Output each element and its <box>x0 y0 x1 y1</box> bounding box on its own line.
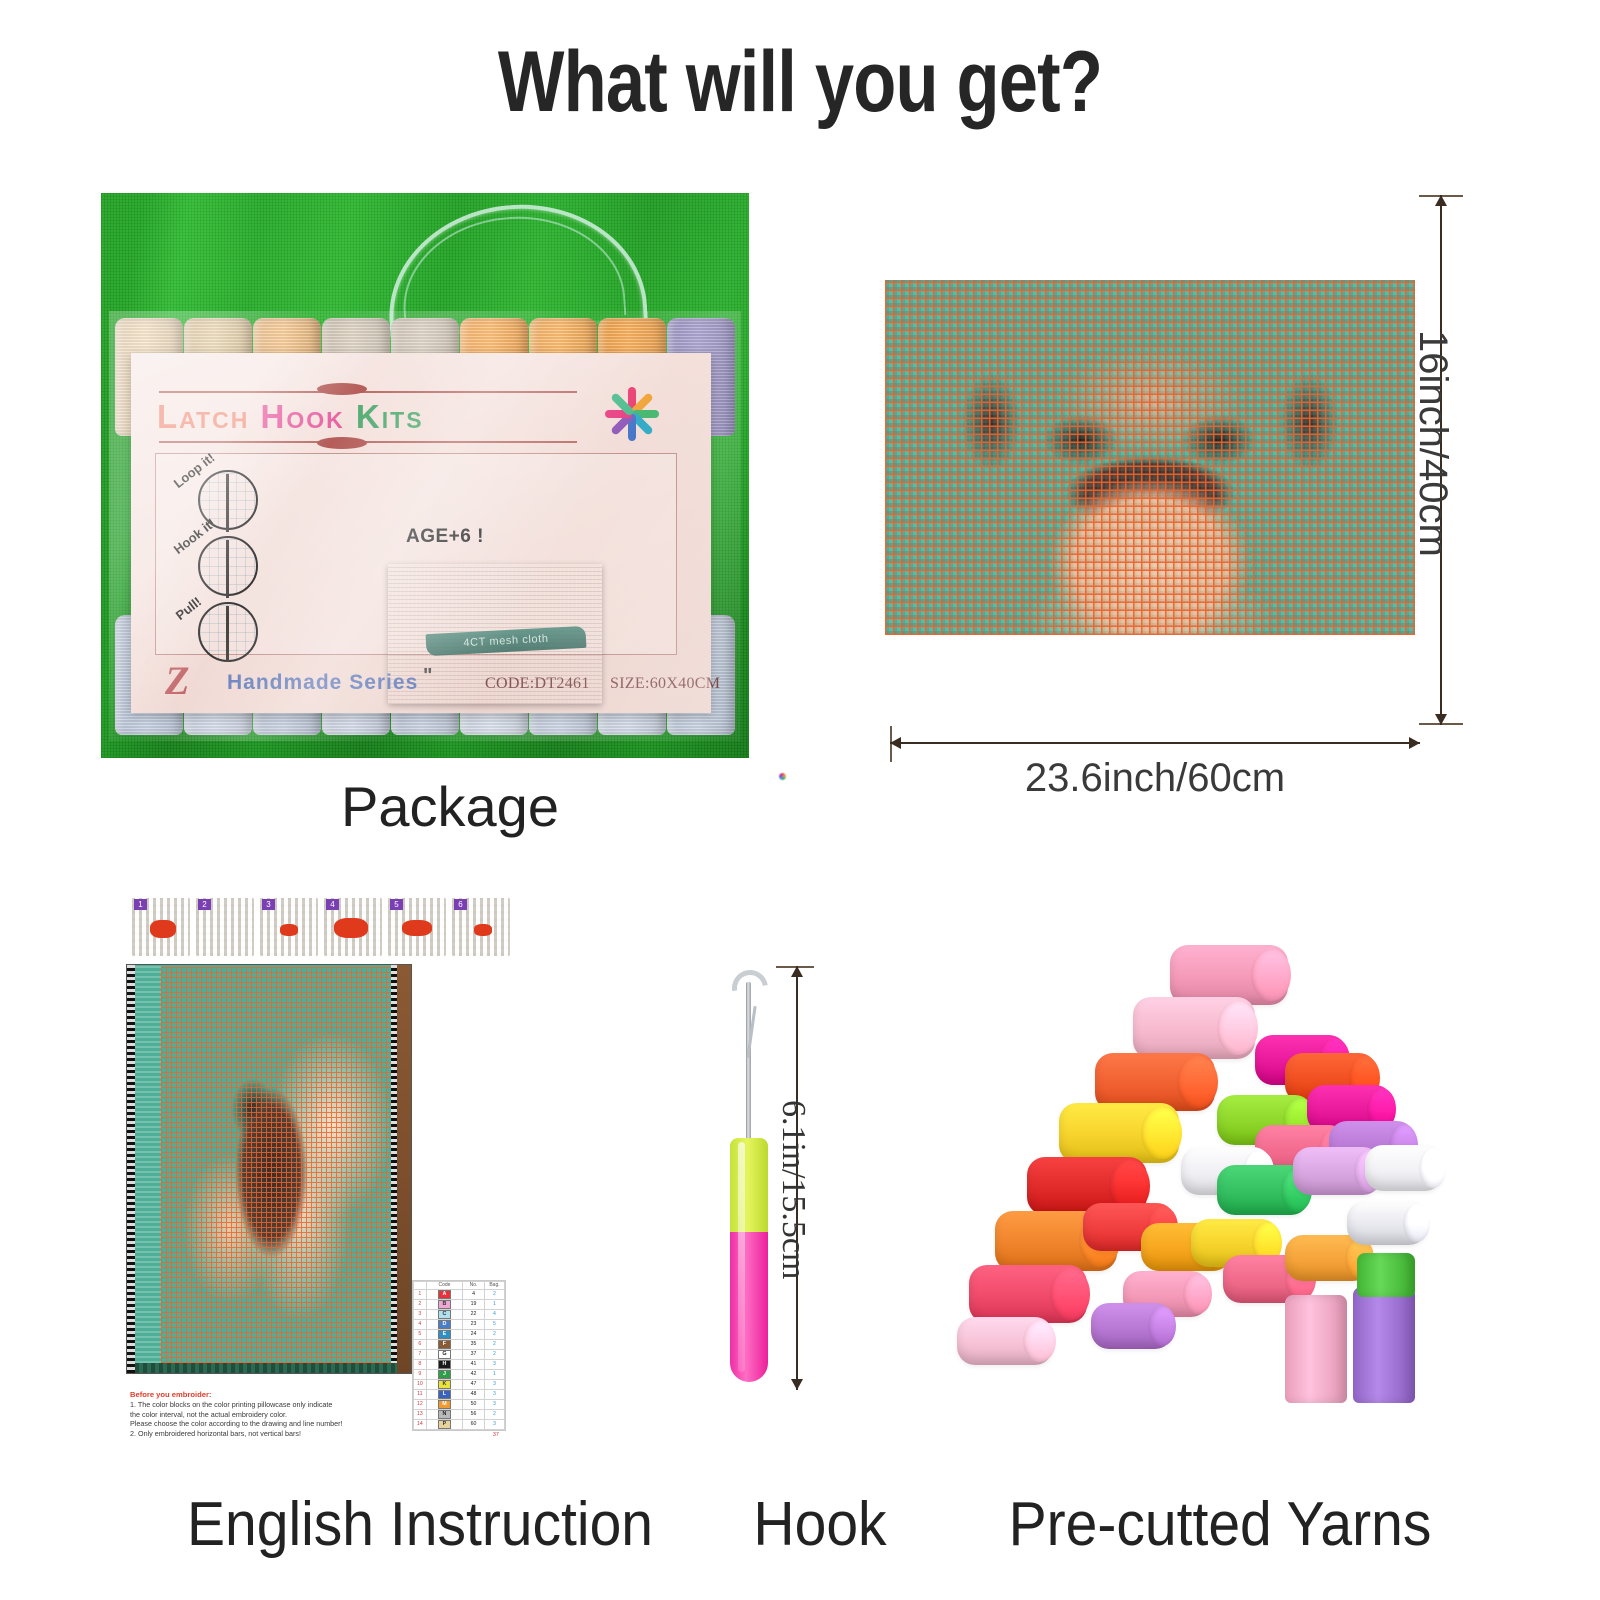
page-title: What will you get? <box>144 34 1456 130</box>
caption-package: Package <box>110 776 790 838</box>
tutorial-thumbnail: 5 <box>388 898 446 956</box>
legend-row: 3C224 <box>414 1309 505 1319</box>
legend-code: G <box>426 1349 462 1359</box>
legend-row: 8H413 <box>414 1359 505 1369</box>
legend-index: 1 <box>414 1289 427 1299</box>
mesh-canvas <box>885 280 1415 635</box>
legend-row: 11L483 <box>414 1389 505 1399</box>
yarn-piece <box>1365 1145 1443 1191</box>
thumbnail-yarn-blob <box>474 924 492 936</box>
legend-code: C <box>426 1309 462 1319</box>
legend-code: N <box>426 1409 462 1419</box>
hook-handle-upper <box>730 1138 768 1234</box>
thumbnail-number-badge: 6 <box>454 899 467 910</box>
color-legend-table: CodeNo.Bag.1A422B1913C2244D2355E2426F352… <box>412 1280 506 1431</box>
legend-code: L <box>426 1389 462 1399</box>
legend-bag: 3 <box>484 1389 504 1399</box>
chart-blue-margin <box>135 965 161 1373</box>
thumbnail-yarn-blob <box>334 918 368 938</box>
legend-row: 1A42 <box>414 1289 505 1299</box>
legend-header-cell: No. <box>463 1282 485 1290</box>
legend-color-swatch: F <box>438 1340 451 1349</box>
before-you-embroider-note: Before you embroider: 1. The color block… <box>130 1390 422 1438</box>
legend-count: 19 <box>463 1299 485 1309</box>
thumbnail-number-badge: 2 <box>198 899 211 910</box>
legend-index: 8 <box>414 1359 427 1369</box>
legend-count: 41 <box>463 1359 485 1369</box>
legend-count: 23 <box>463 1319 485 1329</box>
legend-code: H <box>426 1359 462 1369</box>
before-line-3: Please choose the color according to the… <box>130 1419 422 1429</box>
pattern-chart <box>126 964 412 1374</box>
legend-color-swatch: H <box>438 1360 451 1369</box>
legend-row: 12M503 <box>414 1399 505 1409</box>
legend-count: 24 <box>463 1329 485 1339</box>
yarn-piece <box>969 1265 1087 1323</box>
legend-index: 6 <box>414 1339 427 1349</box>
tutorial-thumbnail: 6 <box>452 898 510 956</box>
legend-index: 5 <box>414 1329 427 1339</box>
tutorial-thumbnail-strip: 123456 <box>132 898 510 956</box>
legend-header-cell: Code <box>426 1282 462 1290</box>
legend-index: 3 <box>414 1309 427 1319</box>
legend-total: 37 <box>493 1432 499 1439</box>
yarn-piece <box>1059 1103 1179 1163</box>
legend-color-swatch: G <box>438 1350 451 1359</box>
legend-bag: 1 <box>484 1369 504 1379</box>
caption-english-instruction: English Instruction <box>135 1492 705 1558</box>
yarn-bundle-tube <box>1285 1295 1347 1403</box>
thumbnail-yarn-blob <box>280 924 298 936</box>
legend-count: 42 <box>463 1369 485 1379</box>
legend-count: 4 <box>463 1289 485 1299</box>
infographic-page: What will you get? Latch Hook Kits Lo <box>0 0 1600 1600</box>
before-line-2: the color interval, not the actual embro… <box>130 1410 422 1420</box>
hook-shaft <box>746 982 751 1142</box>
caption-precut-yarns: Pre-cutted Yarns <box>972 1492 1469 1558</box>
legend-bag: 4 <box>484 1309 504 1319</box>
legend-color-swatch: C <box>438 1310 451 1319</box>
legend-bag: 2 <box>484 1289 504 1299</box>
chart-grid-lines <box>161 967 391 1363</box>
legend-count: 22 <box>463 1309 485 1319</box>
legend-color-swatch: N <box>438 1410 451 1419</box>
legend-count: 47 <box>463 1379 485 1389</box>
yarn-bundle-tube <box>1353 1287 1415 1403</box>
legend-bag: 3 <box>484 1359 504 1369</box>
legend-color-swatch: L <box>438 1390 451 1399</box>
tutorial-thumbnail: 4 <box>324 898 382 956</box>
legend-count: 48 <box>463 1389 485 1399</box>
caption-hook: Hook <box>700 1492 939 1558</box>
legend-code: E <box>426 1329 462 1339</box>
legend-count: 37 <box>463 1349 485 1359</box>
legend-bag: 2 <box>484 1349 504 1359</box>
before-line-4: 2. Only embroidered horizontal bars, not… <box>130 1429 422 1439</box>
mesh-canvas-photo <box>885 280 1415 635</box>
before-line-1: 1. The color blocks on the color printin… <box>130 1400 422 1410</box>
yarn-piece <box>1091 1303 1173 1349</box>
legend-code: F <box>426 1339 462 1349</box>
yarn-piece <box>957 1317 1053 1365</box>
legend-bag: 3 <box>484 1419 504 1429</box>
thumbnail-number-badge: 3 <box>262 899 275 910</box>
legend-bag: 3 <box>484 1399 504 1409</box>
legend-code: D <box>426 1319 462 1329</box>
chart-left-border <box>127 965 135 1373</box>
label-plastic-sheen <box>131 353 711 713</box>
legend-count: 56 <box>463 1409 485 1419</box>
yarn-piece <box>1170 945 1288 1005</box>
legend-color-swatch: K <box>438 1380 451 1389</box>
legend-code: B <box>426 1299 462 1309</box>
yarn-bundle-tube <box>1357 1253 1415 1297</box>
legend-row: 4D235 <box>414 1319 505 1329</box>
canvas-width-label: 23.6inch/60cm <box>890 756 1420 801</box>
hook-handle-lower <box>730 1232 768 1382</box>
legend-row: 9J421 <box>414 1369 505 1379</box>
tutorial-thumbnail: 3 <box>260 898 318 956</box>
legend-color-swatch: D <box>438 1320 451 1329</box>
tutorial-thumbnail: 2 <box>196 898 254 956</box>
legend-color-swatch: P <box>438 1420 451 1429</box>
legend-color-swatch: J <box>438 1370 451 1379</box>
yarn-piece <box>1347 1201 1427 1245</box>
legend-row: 14P603 <box>414 1419 505 1429</box>
legend-row: 13N562 <box>414 1409 505 1419</box>
dimension-arrow-horizontal <box>890 742 1420 744</box>
package-label: Latch Hook Kits Loop it! Hook it! Pull! … <box>131 353 711 713</box>
chart-brown-margin <box>397 965 411 1373</box>
legend-bag: 2 <box>484 1409 504 1419</box>
legend-bag: 5 <box>484 1319 504 1329</box>
legend-code: J <box>426 1369 462 1379</box>
chart-bottom-margin <box>135 1363 397 1373</box>
legend-index: 10 <box>414 1379 427 1389</box>
legend-code: M <box>426 1399 462 1409</box>
legend-row: 7G372 <box>414 1349 505 1359</box>
legend-index: 7 <box>414 1349 427 1359</box>
legend-code: K <box>426 1379 462 1389</box>
hook-handle-gloss <box>738 1142 745 1372</box>
legend-row: 10K473 <box>414 1379 505 1389</box>
thumbnail-number-badge: 5 <box>390 899 403 910</box>
legend-index: 4 <box>414 1319 427 1329</box>
legend-bag: 2 <box>484 1329 504 1339</box>
legend-header-cell <box>414 1282 427 1290</box>
legend-index: 9 <box>414 1369 427 1379</box>
mesh-grid-lines <box>885 280 1415 635</box>
before-title: Before you embroider: <box>130 1390 422 1399</box>
thumbnail-yarn-blob <box>150 920 176 938</box>
legend-row: 6F352 <box>414 1339 505 1349</box>
precut-yarns-photo <box>955 935 1455 1425</box>
legend-bag: 3 <box>484 1379 504 1389</box>
legend-header-cell: Bag. <box>484 1282 504 1290</box>
legend-bag: 2 <box>484 1339 504 1349</box>
legend-color-swatch: B <box>438 1300 451 1309</box>
legend-code: P <box>426 1419 462 1429</box>
color-speck-artifact <box>779 773 786 780</box>
thumbnail-yarn-blob <box>402 920 432 936</box>
legend-color-swatch: E <box>438 1330 451 1339</box>
legend-bag: 1 <box>484 1299 504 1309</box>
legend-row: 5E242 <box>414 1329 505 1339</box>
thumbnail-number-badge: 1 <box>134 899 147 910</box>
legend-color-swatch: M <box>438 1400 451 1409</box>
thumbnail-number-badge: 4 <box>326 899 339 910</box>
hook-length-label: 6.1in/15.5cm <box>774 1100 812 1279</box>
legend-row: 2B191 <box>414 1299 505 1309</box>
english-instruction-sheet: 123456 CodeNo.Bag.1A422B1913C2244D2355E2… <box>126 898 516 1470</box>
package-photo: Latch Hook Kits Loop it! Hook it! Pull! … <box>101 193 749 758</box>
legend-count: 35 <box>463 1339 485 1349</box>
tutorial-thumbnail: 1 <box>132 898 190 956</box>
legend-table: CodeNo.Bag.1A422B1913C2244D2355E2426F352… <box>413 1281 505 1430</box>
legend-index: 2 <box>414 1299 427 1309</box>
legend-code: A <box>426 1289 462 1299</box>
canvas-height-label: 16inch/40cm <box>1410 330 1455 557</box>
yarn-piece <box>1133 997 1255 1059</box>
legend-count: 60 <box>463 1419 485 1429</box>
legend-color-swatch: A <box>438 1290 451 1299</box>
legend-count: 50 <box>463 1399 485 1409</box>
